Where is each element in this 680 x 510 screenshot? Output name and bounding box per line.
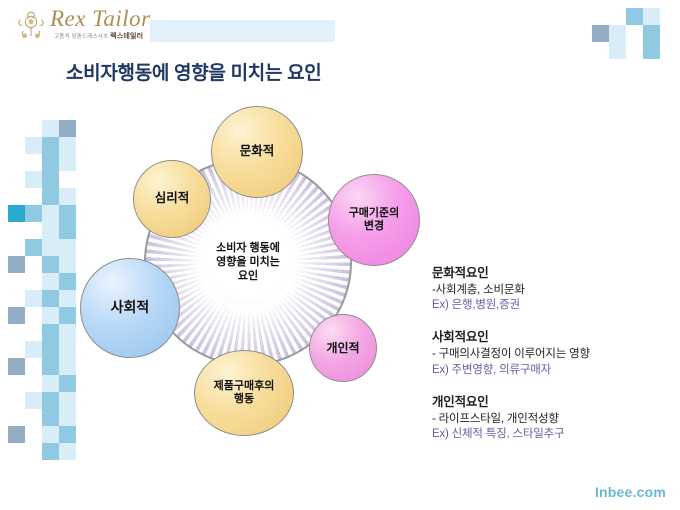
mosaic-tile bbox=[609, 42, 626, 59]
factor-notes-list: 문화적요인 -사회계층, 소비문화 Ex) 은행,병원,증권 사회적요인 - 구… bbox=[432, 262, 668, 455]
mosaic-tile bbox=[8, 137, 25, 154]
mosaic-tile bbox=[42, 256, 59, 273]
mosaic-tile bbox=[25, 222, 42, 239]
mosaic-tile bbox=[59, 443, 76, 460]
mosaic-tile bbox=[25, 375, 42, 392]
bubble-social-label: 사회적 bbox=[111, 299, 150, 316]
mosaic-tile bbox=[25, 290, 42, 307]
mosaic-tile bbox=[8, 392, 25, 409]
note-detail: -사회계층, 소비문화 bbox=[432, 283, 668, 298]
mosaic-tile bbox=[42, 324, 59, 341]
mosaic-tile bbox=[626, 42, 643, 59]
slide-canvas: Rex Tailor 고품격 맞춤드레스서츠 렉스테일러 소비자행동에 영향을 … bbox=[0, 0, 680, 510]
mosaic-tile bbox=[8, 324, 25, 341]
note-detail: - 구매의사결정이 이루어지는 영향 bbox=[432, 347, 668, 362]
mosaic-tile bbox=[25, 188, 42, 205]
mosaic-tile bbox=[8, 188, 25, 205]
mosaic-tile bbox=[626, 8, 643, 25]
mosaic-tile bbox=[25, 239, 42, 256]
bubble-criteria-change-label: 구매기준의변경 bbox=[349, 207, 400, 234]
mosaic-tile bbox=[8, 307, 25, 324]
mosaic-tile bbox=[25, 205, 42, 222]
mosaic-tile bbox=[42, 273, 59, 290]
mosaic-tile bbox=[25, 324, 42, 341]
note-heading: 개인적요인 bbox=[432, 391, 668, 410]
bubble-social: 사회적 bbox=[80, 258, 180, 358]
mosaic-tile bbox=[8, 426, 25, 443]
note-heading: 사회적요인 bbox=[432, 326, 668, 345]
mosaic-tile bbox=[42, 358, 59, 375]
mosaic-tile bbox=[25, 341, 42, 358]
bubble-personal: 개인적 bbox=[309, 314, 377, 382]
bubble-cultural-label: 문화적 bbox=[240, 144, 275, 159]
mosaic-decoration-left bbox=[8, 120, 76, 460]
mosaic-tile bbox=[42, 120, 59, 137]
mosaic-tile bbox=[42, 188, 59, 205]
brand-logo: Rex Tailor 고품격 맞춤드레스서츠 렉스테일러 bbox=[14, 6, 164, 46]
mosaic-tile bbox=[42, 137, 59, 154]
site-watermark: Inbee.com bbox=[595, 484, 666, 500]
mosaic-tile bbox=[8, 256, 25, 273]
mosaic-tile bbox=[8, 205, 25, 222]
mosaic-tile bbox=[8, 273, 25, 290]
mosaic-tile bbox=[8, 358, 25, 375]
logo-wordmark: Rex Tailor bbox=[50, 6, 151, 32]
note-block-personal: 개인적요인 - 라이프스타일, 개인적성향 Ex) 신체적 특징, 스타일추구 bbox=[432, 391, 668, 442]
mosaic-tile bbox=[8, 154, 25, 171]
diagram-center-node: 소비자 행동에영향을 미치는요인 bbox=[203, 217, 293, 307]
mosaic-tile bbox=[609, 8, 626, 25]
mosaic-tile bbox=[592, 8, 609, 25]
mosaic-tile bbox=[8, 409, 25, 426]
mosaic-tile bbox=[25, 358, 42, 375]
diagram-center-label: 소비자 행동에영향을 미치는요인 bbox=[216, 241, 280, 283]
mosaic-tile bbox=[8, 222, 25, 239]
influence-factors-diagram: 문화적 심리적 구매기준의변경 사회적 개인적 제품구매후의행동 소비자 행동에… bbox=[70, 100, 430, 440]
note-heading: 문화적요인 bbox=[432, 262, 668, 281]
mosaic-tile bbox=[42, 443, 59, 460]
bubble-post-purchase-label: 제품구매후의행동 bbox=[214, 380, 275, 407]
note-example: Ex) 은행,병원,증권 bbox=[432, 298, 668, 313]
bubble-psychological: 심리적 bbox=[133, 160, 211, 238]
mosaic-tile bbox=[25, 120, 42, 137]
mosaic-tile bbox=[626, 25, 643, 42]
mosaic-tile bbox=[8, 290, 25, 307]
mosaic-tile bbox=[643, 25, 660, 42]
mosaic-tile bbox=[42, 392, 59, 409]
mosaic-decoration-top-right bbox=[592, 8, 660, 59]
mosaic-tile bbox=[42, 426, 59, 443]
mosaic-tile bbox=[25, 171, 42, 188]
mosaic-tile bbox=[42, 239, 59, 256]
page-title: 소비자행동에 영향을 미치는 요인 bbox=[66, 58, 321, 85]
bubble-personal-label: 개인적 bbox=[326, 341, 359, 356]
mosaic-tile bbox=[592, 25, 609, 42]
mosaic-tile bbox=[8, 341, 25, 358]
mosaic-tile bbox=[8, 120, 25, 137]
mosaic-tile bbox=[8, 171, 25, 188]
bubble-post-purchase-behavior: 제품구매후의행동 bbox=[194, 350, 294, 436]
mosaic-tile bbox=[643, 8, 660, 25]
mosaic-tile bbox=[42, 375, 59, 392]
note-block-cultural: 문화적요인 -사회계층, 소비문화 Ex) 은행,병원,증권 bbox=[432, 262, 668, 313]
mosaic-tile bbox=[42, 290, 59, 307]
mosaic-tile bbox=[25, 443, 42, 460]
note-example: Ex) 신체적 특징, 스타일추구 bbox=[432, 427, 668, 442]
mosaic-tile bbox=[25, 307, 42, 324]
logo-subtitle-korean: 렉스테일러 bbox=[110, 33, 143, 40]
mosaic-tile bbox=[42, 341, 59, 358]
mosaic-tile bbox=[609, 25, 626, 42]
bubble-psychological-label: 심리적 bbox=[155, 191, 190, 206]
mosaic-tile bbox=[592, 42, 609, 59]
mosaic-tile bbox=[25, 409, 42, 426]
mosaic-tile bbox=[42, 222, 59, 239]
mosaic-tile bbox=[42, 171, 59, 188]
note-detail: - 라이프스타일, 개인적성향 bbox=[432, 412, 668, 427]
note-example: Ex) 주변영향, 의류구매자 bbox=[432, 363, 668, 378]
ornate-crest-icon bbox=[14, 10, 48, 40]
note-block-social: 사회적요인 - 구매의사결정이 이루어지는 영향 Ex) 주변영향, 의류구매자 bbox=[432, 326, 668, 377]
mosaic-tile bbox=[42, 409, 59, 426]
mosaic-tile bbox=[42, 307, 59, 324]
mosaic-tile bbox=[42, 205, 59, 222]
mosaic-tile bbox=[25, 256, 42, 273]
bubble-criteria-change: 구매기준의변경 bbox=[328, 174, 420, 266]
logo-subtitle-small: 고품격 맞춤드레스서츠 bbox=[54, 34, 108, 40]
mosaic-tile bbox=[25, 273, 42, 290]
mosaic-tile bbox=[8, 239, 25, 256]
mosaic-tile bbox=[25, 426, 42, 443]
logo-accent-bar bbox=[150, 20, 335, 42]
logo-subtitle: 고품격 맞춤드레스서츠 렉스테일러 bbox=[54, 31, 143, 41]
mosaic-tile bbox=[643, 42, 660, 59]
bubble-cultural: 문화적 bbox=[211, 106, 303, 198]
mosaic-tile bbox=[25, 392, 42, 409]
mosaic-tile bbox=[42, 154, 59, 171]
mosaic-tile bbox=[25, 154, 42, 171]
mosaic-tile bbox=[25, 137, 42, 154]
mosaic-tile bbox=[8, 443, 25, 460]
mosaic-tile bbox=[8, 375, 25, 392]
